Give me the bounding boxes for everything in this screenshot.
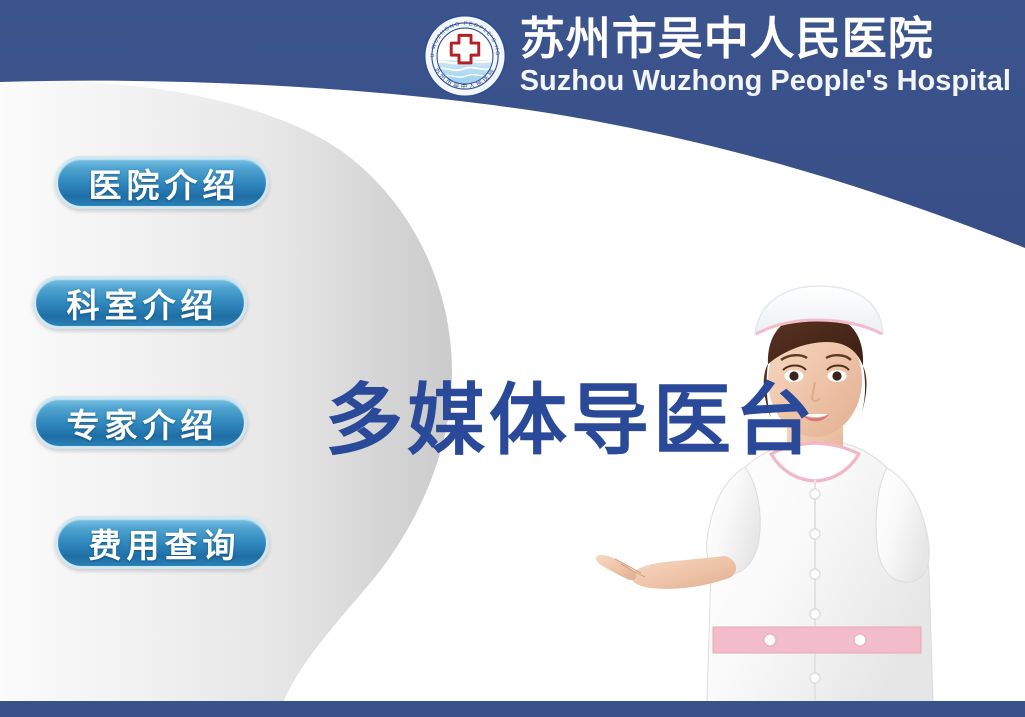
sidebar-item-label: 科室介绍 (62, 279, 219, 327)
nurse-presenting-icon (595, 272, 1025, 702)
brand-block: SUZHOU WUZHONG PEOPLE'S HOSPITAL 苏州市吴中人民… (422, 13, 1011, 99)
site-header: SUZHOU WUZHONG PEOPLE'S HOSPITAL 苏州市吴中人民… (0, 0, 1025, 112)
sidebar-item-fee-inquiry[interactable]: 费用查询 (55, 516, 269, 569)
nurse-belt (713, 627, 921, 653)
nurse-right-sleeve (876, 468, 929, 582)
sidebar-item-hospital-intro[interactable]: 医院介绍 (55, 156, 269, 209)
sidebar-item-label: 专家介绍 (62, 399, 219, 447)
brand-text: 苏州市吴中人民医院 Suzhou Wuzhong People's Hospit… (520, 16, 1011, 96)
sidebar-item-label: 医院介绍 (84, 159, 241, 207)
hospital-circular-emblem-icon: SUZHOU WUZHONG PEOPLE'S HOSPITAL 苏州市吴中人民… (422, 13, 508, 99)
sidebar-item-department-intro[interactable]: 科室介绍 (33, 276, 247, 329)
nurse-lower-button (810, 673, 820, 683)
footer-bar (0, 701, 1025, 717)
hospital-name-cn: 苏州市吴中人民医院 (520, 16, 934, 61)
hospital-logo: SUZHOU WUZHONG PEOPLE'S HOSPITAL 苏州市吴中人民… (422, 13, 508, 99)
kiosk-screen: SUZHOU WUZHONG PEOPLE'S HOSPITAL 苏州市吴中人民… (0, 0, 1025, 717)
sidebar-item-expert-intro[interactable]: 专家介绍 (33, 396, 247, 449)
hospital-name-en: Suzhou Wuzhong People's Hospital (520, 67, 1011, 96)
sidebar-item-label: 费用查询 (84, 519, 241, 567)
page-title: 多媒体导医台 (325, 358, 817, 470)
